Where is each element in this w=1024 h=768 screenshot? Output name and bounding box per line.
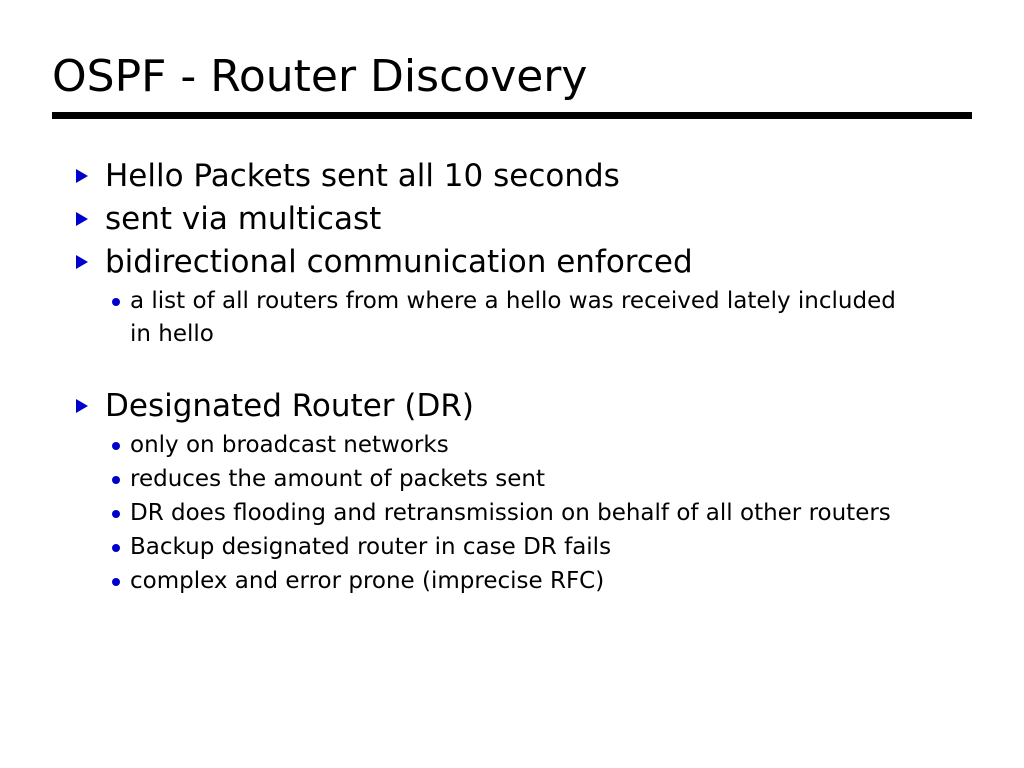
triangle-right-bullet-icon	[72, 156, 105, 196]
sub-list-item-label: only on broadcast networks	[130, 429, 900, 462]
sub-list-item: DR does flooding and retransmission on b…	[72, 497, 952, 530]
outline-spacer	[72, 352, 952, 386]
sub-list-item-label: DR does flooding and retransmission on b…	[130, 497, 900, 530]
list-item-label: bidirectional communication enforced	[105, 242, 952, 283]
round-dot-bullet-icon	[110, 463, 130, 496]
round-dot-bullet-icon	[110, 565, 130, 598]
list-item-label: Designated Router (DR)	[105, 386, 952, 427]
round-dot-bullet-icon	[110, 531, 130, 564]
sub-list-item-label: a list of all routers from where a hello…	[130, 285, 900, 351]
list-item: Hello Packets sent all 10 seconds	[72, 156, 952, 197]
page-title: OSPF - Router Discovery	[52, 50, 972, 104]
triangle-right-bullet-icon	[72, 242, 105, 282]
list-item-label: sent via multicast	[105, 199, 952, 240]
list-item: Designated Router (DR)	[72, 386, 952, 427]
round-dot-bullet-icon	[110, 497, 130, 530]
sub-list-item: only on broadcast networks	[72, 429, 952, 462]
list-item-label: Hello Packets sent all 10 seconds	[105, 156, 952, 197]
round-dot-bullet-icon	[110, 429, 130, 462]
sub-list-item-label: Backup designated router in case DR fail…	[130, 531, 900, 564]
list-item: bidirectional communication enforced	[72, 242, 952, 283]
sub-list-item-label: reduces the amount of packets sent	[130, 463, 900, 496]
slide-canvas: OSPF - Router Discovery Hello Packets se…	[0, 0, 1024, 768]
sub-list-item: complex and error prone (imprecise RFC)	[72, 565, 952, 598]
triangle-right-bullet-icon	[72, 386, 105, 426]
title-underline-rule	[52, 112, 972, 119]
sub-list-item-label: complex and error prone (imprecise RFC)	[130, 565, 900, 598]
list-item: sent via multicast	[72, 199, 952, 240]
sub-list-item: Backup designated router in case DR fail…	[72, 531, 952, 564]
triangle-right-bullet-icon	[72, 199, 105, 239]
title-block: OSPF - Router Discovery	[52, 50, 972, 104]
sub-list-item: a list of all routers from where a hello…	[72, 285, 952, 351]
sub-list-item: reduces the amount of packets sent	[72, 463, 952, 496]
round-dot-bullet-icon	[110, 285, 130, 318]
outline-body: Hello Packets sent all 10 seconds sent v…	[72, 156, 952, 599]
